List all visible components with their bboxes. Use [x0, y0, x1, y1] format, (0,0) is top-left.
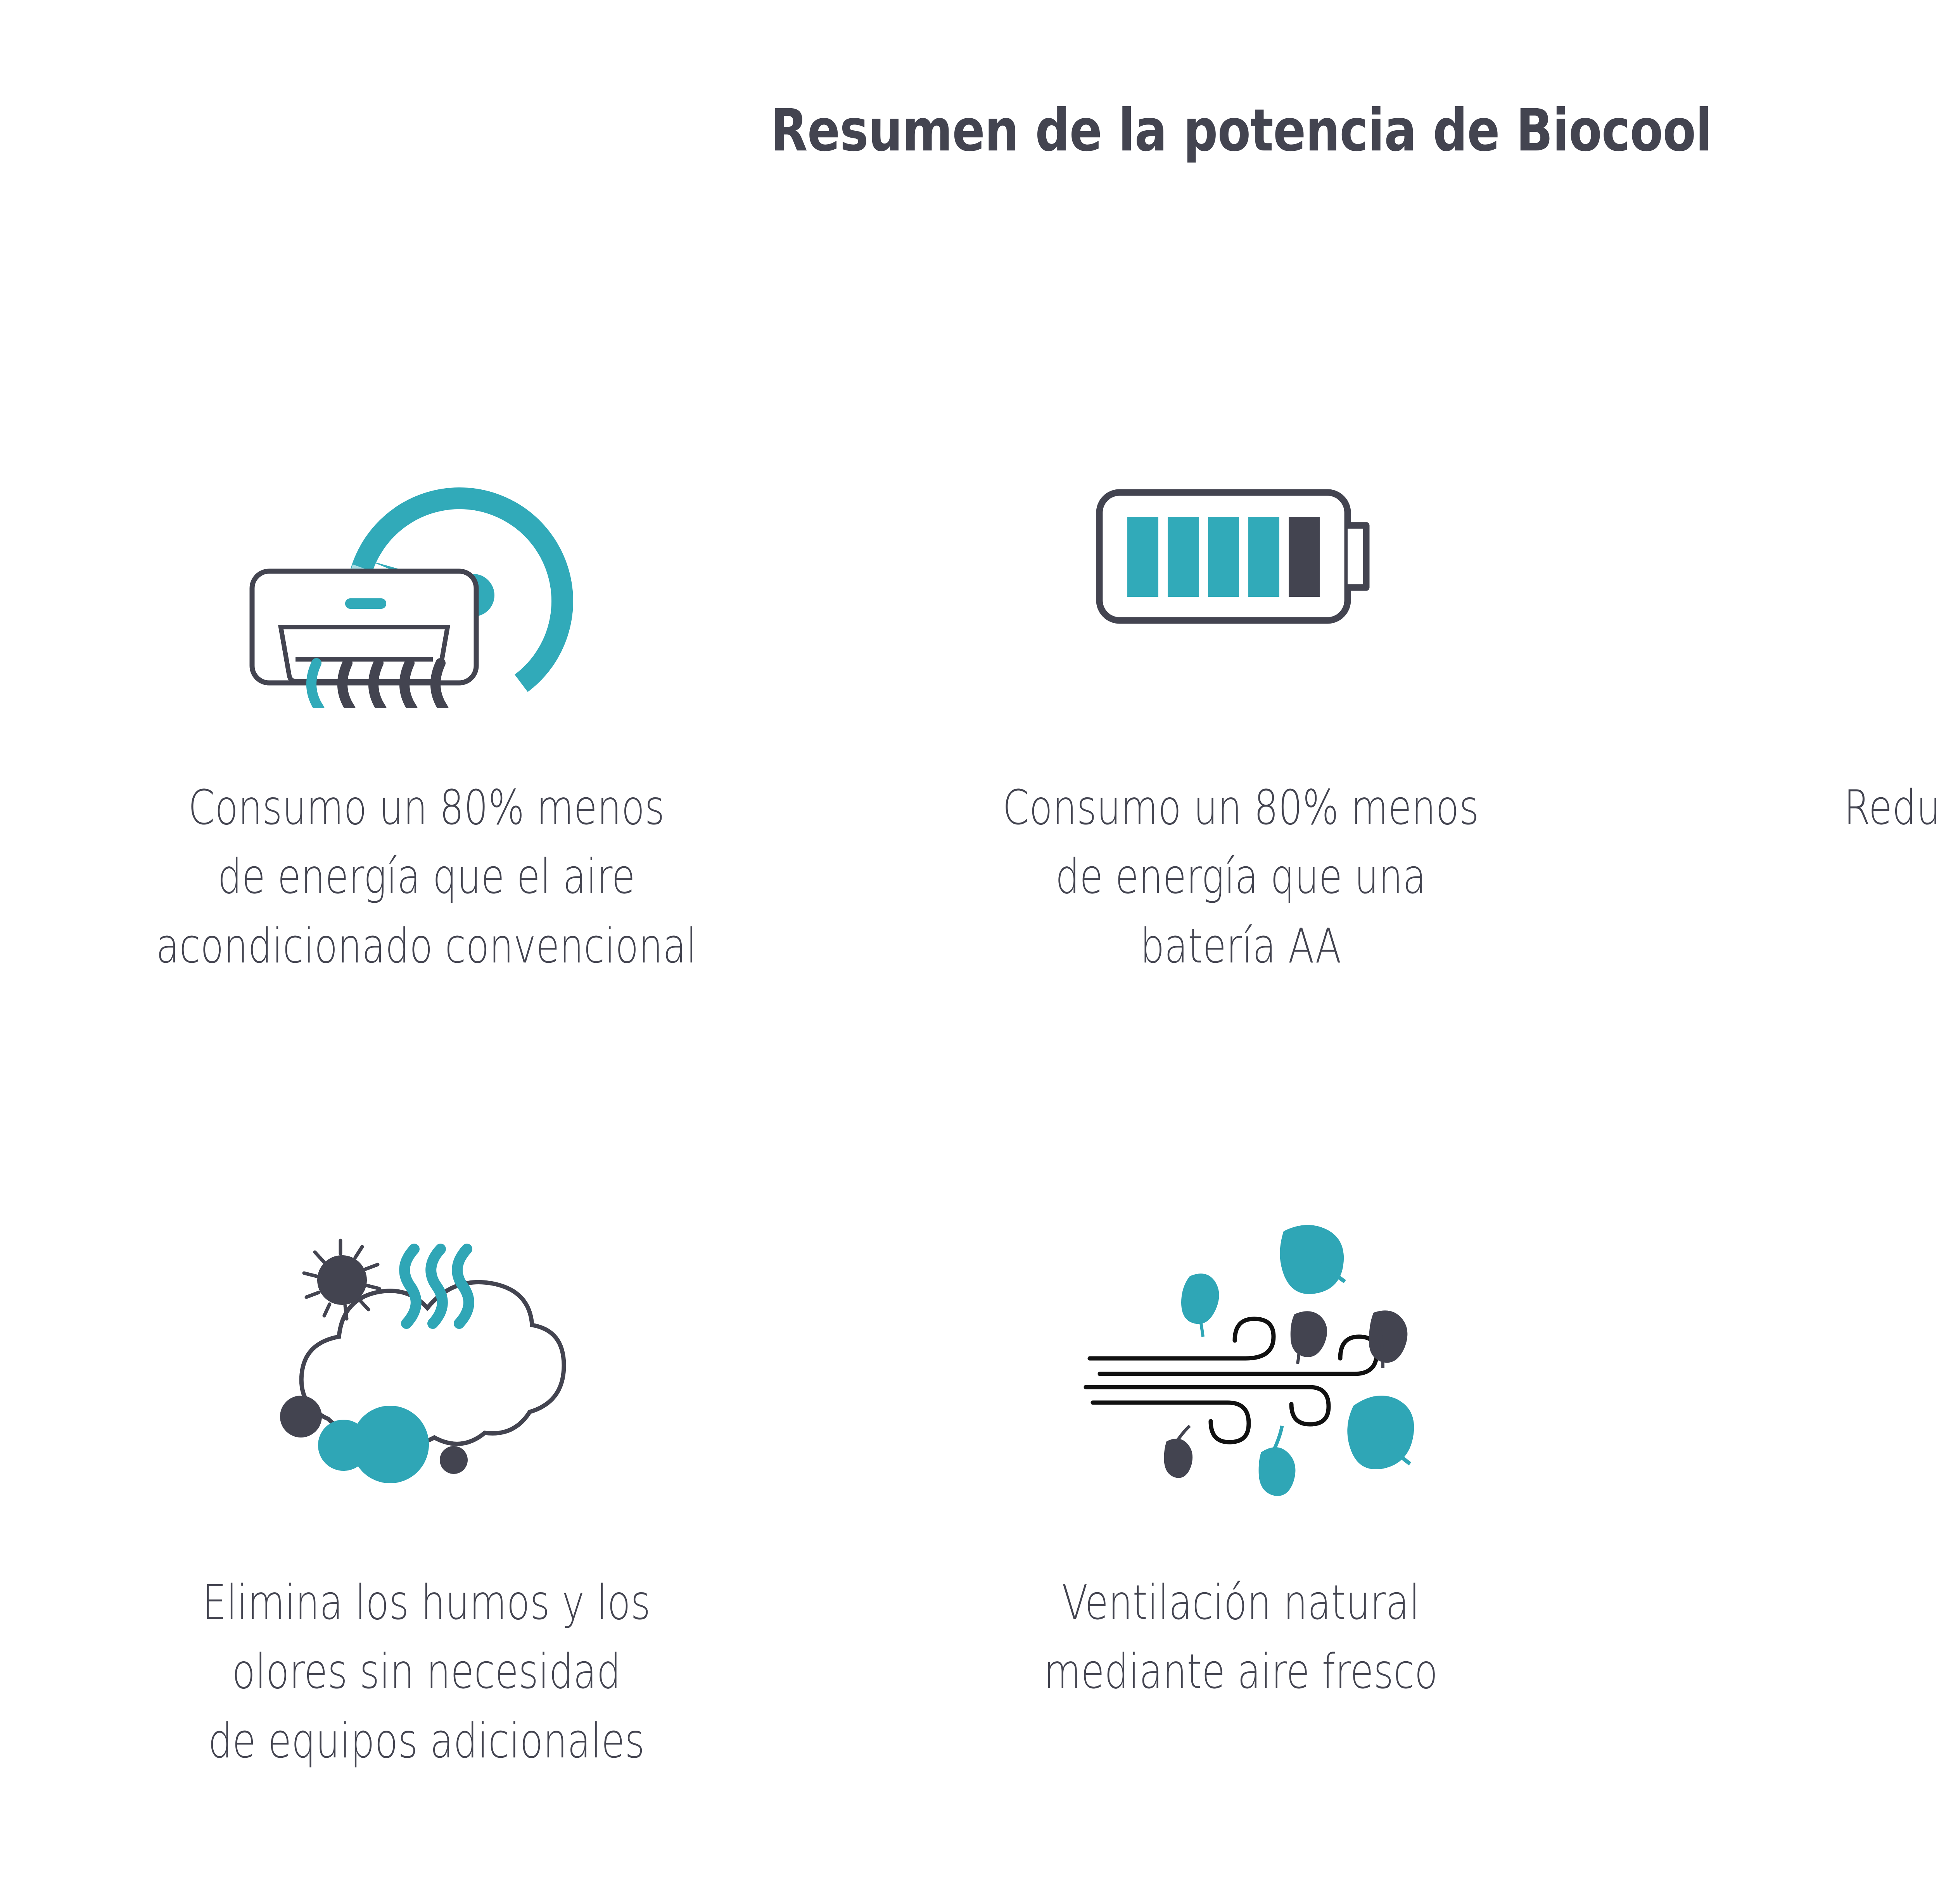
card-caption: Consumo un 80% menos de energía que el a…	[154, 774, 699, 981]
card-static-electricity[interactable]: Reduce la electricidad estática	[1692, 312, 1939, 1049]
card-smoke-odors[interactable]: Elimina los humos y los olores sin neces…	[63, 1107, 790, 1844]
air-conditioner-gauge-icon	[63, 355, 790, 743]
card-caption: Elimina los humos y los olores sin neces…	[154, 1569, 699, 1776]
card-caption: Ventilación natural mediante aire fresco	[969, 1569, 1513, 1707]
card-caption: Reduce la electricidad estática	[1783, 774, 1939, 912]
battery-level-icon	[877, 355, 1604, 743]
card-ventilation[interactable]: Ventilación natural mediante aire fresco	[877, 1107, 1604, 1844]
card-caption: Consumo un 80% menos de energía que una …	[969, 774, 1513, 981]
wind-leaves-ventilation-icon	[877, 1150, 1604, 1538]
smoke-odor-cloud-icon	[63, 1150, 790, 1538]
card-energy-ac[interactable]: Consumo un 80% menos de energía que el a…	[63, 312, 790, 1049]
card-energy-battery[interactable]: Consumo un 80% menos de energía que una …	[877, 312, 1604, 1049]
static-electricity-bolt-icon	[1692, 355, 1939, 743]
benefits-card-grid: Consumo un 80% menos de energía que el a…	[0, 0, 1939, 1904]
